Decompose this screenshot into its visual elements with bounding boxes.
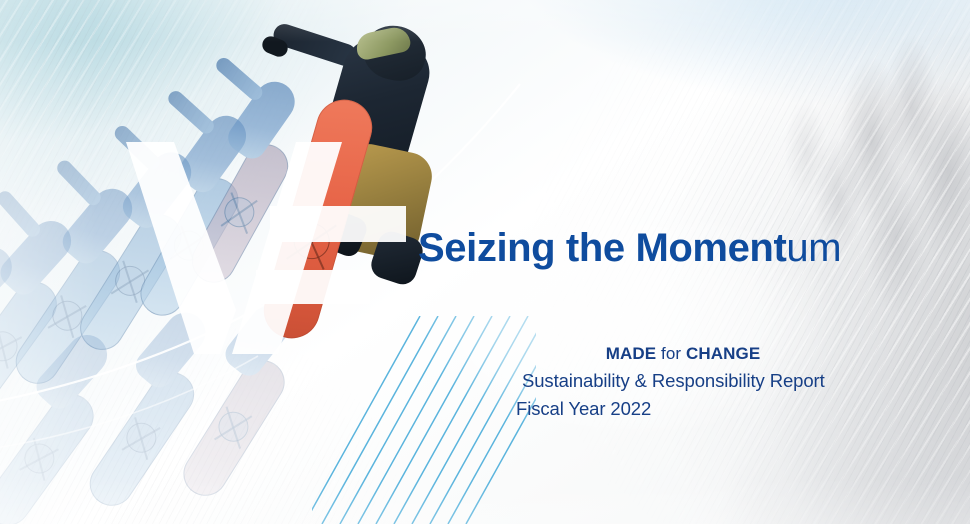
tagline-for: for xyxy=(656,344,686,363)
fiscal-year: Fiscal Year 2022 xyxy=(516,395,876,423)
report-subtitle: Sustainability & Responsibility Report xyxy=(516,367,876,395)
tagline-made: MADE xyxy=(606,344,656,363)
subtitle-block: MADE for CHANGE Sustainability & Respons… xyxy=(516,341,876,423)
tagline: MADE for CHANGE xyxy=(516,341,876,367)
title-light-text: um xyxy=(786,226,841,270)
title-bold-text: Seizing the Moment xyxy=(418,226,786,270)
page-title: Seizing the Momentum xyxy=(418,226,841,270)
snowboard-binding-icon xyxy=(289,219,334,264)
tagline-change: CHANGE xyxy=(686,344,760,363)
report-cover: Seizing the Momentum MADE for CHANGE Sus… xyxy=(0,0,970,524)
